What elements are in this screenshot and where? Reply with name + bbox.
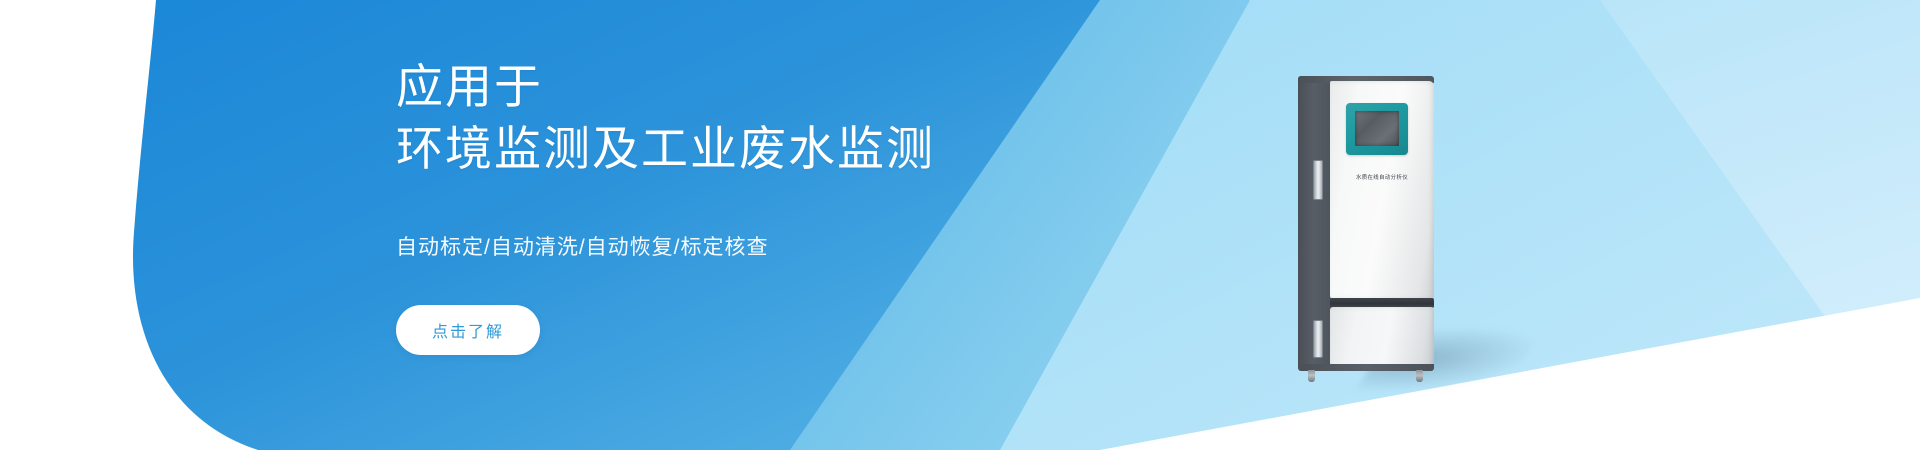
hero-copy-block: 应用于 环境监测及工业废水监测 自动标定/自动清洗/自动恢复/标定核查 点击了解 — [396, 56, 1156, 355]
headline-line-1: 应用于 — [396, 56, 1156, 118]
hero-banner: 应用于 环境监测及工业废水监测 自动标定/自动清洗/自动恢复/标定核查 点击了解… — [0, 0, 1920, 450]
upper-door-handle — [1313, 160, 1323, 200]
hero-subheadline: 自动标定/自动清洗/自动恢复/标定核查 — [396, 180, 1156, 261]
caster-wheel-right — [1416, 370, 1423, 382]
display-bezel — [1346, 103, 1408, 155]
caster-wheel-left — [1308, 370, 1315, 382]
analyzer-cabinet: 水质在线自动分析仪 — [1298, 76, 1434, 376]
cabinet-base-plinth — [1298, 364, 1434, 371]
cabinet-upper-door: 水质在线自动分析仪 — [1330, 81, 1434, 299]
learn-more-button[interactable]: 点击了解 — [396, 305, 540, 355]
display-screen — [1355, 111, 1399, 146]
hero-headline: 应用于 环境监测及工业废水监测 — [396, 56, 1156, 180]
cabinet-lower-door — [1330, 307, 1434, 368]
product-image-water-analyzer: 水质在线自动分析仪 — [1298, 76, 1488, 396]
headline-line-2: 环境监测及工业废水监测 — [396, 118, 1156, 180]
product-front-label: 水质在线自动分析仪 — [1330, 173, 1434, 181]
lower-door-handle — [1313, 320, 1323, 358]
